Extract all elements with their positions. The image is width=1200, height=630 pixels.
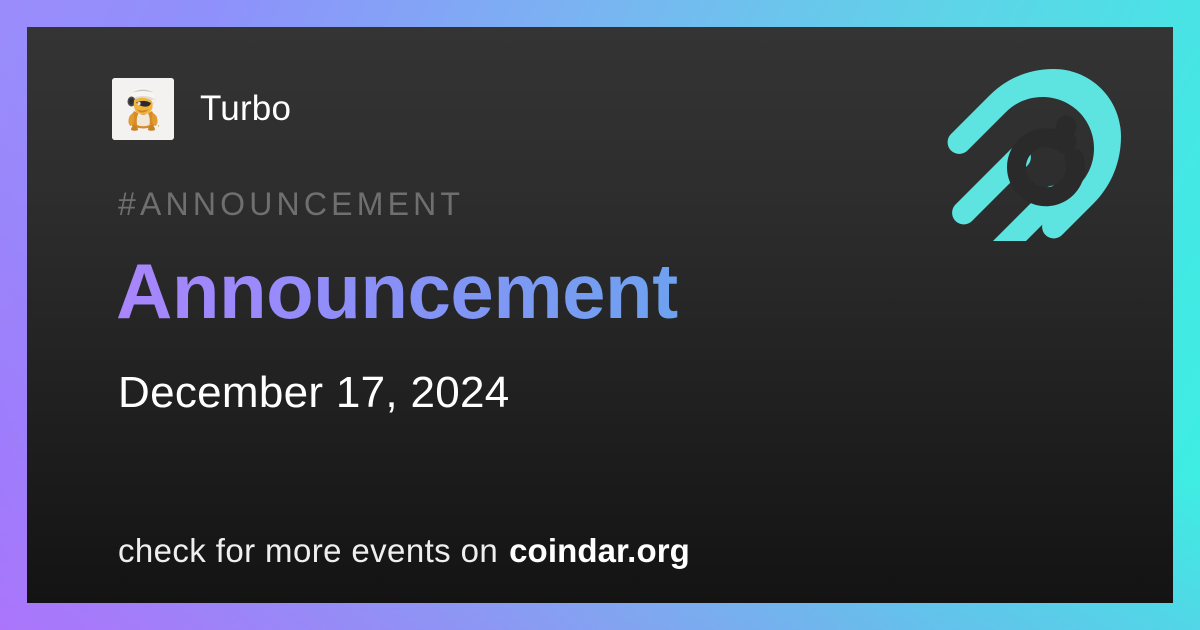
card-panel: Turbo #ANNOUNCEMENT Announcement Decembe… bbox=[27, 27, 1173, 603]
page-title: Announcement bbox=[116, 246, 678, 337]
coin-header: Turbo bbox=[112, 78, 291, 140]
footer-site-link[interactable]: coindar.org bbox=[509, 532, 690, 570]
announcement-card: Turbo #ANNOUNCEMENT Announcement Decembe… bbox=[0, 0, 1200, 630]
event-date: December 17, 2024 bbox=[118, 368, 510, 418]
event-tag: #ANNOUNCEMENT bbox=[118, 186, 464, 223]
coindar-comet-logo bbox=[945, 61, 1125, 241]
turbo-toad-avatar bbox=[112, 78, 174, 140]
footer: check for more events on coindar.org bbox=[118, 532, 690, 570]
footer-text: check for more events on bbox=[118, 532, 498, 570]
coin-name: Turbo bbox=[200, 89, 291, 129]
